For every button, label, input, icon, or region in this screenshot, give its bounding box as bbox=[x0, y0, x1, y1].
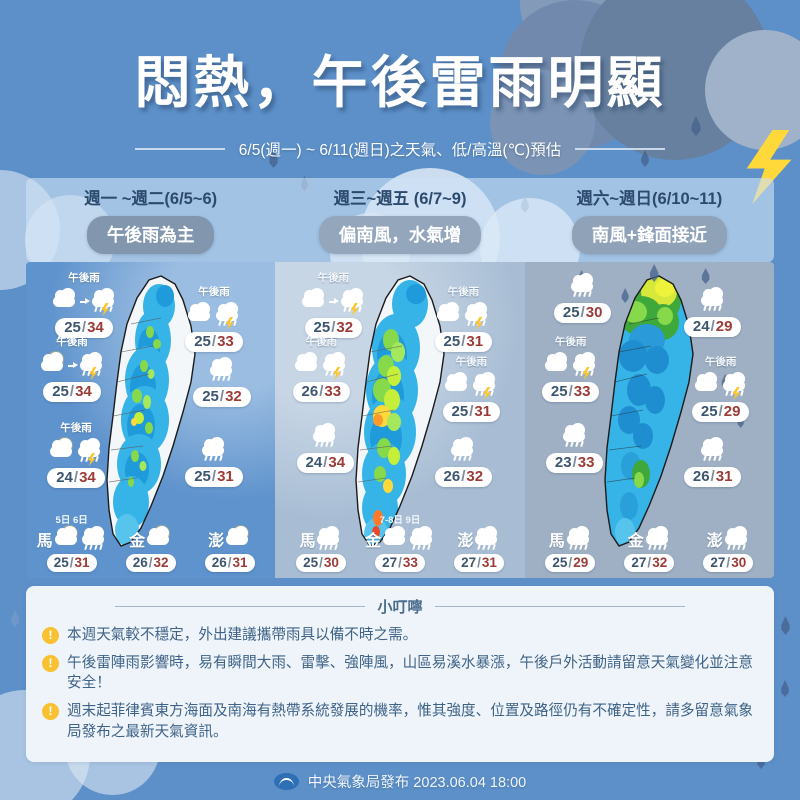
island-name: 金 bbox=[129, 527, 145, 551]
weather-caption: 午後雨 bbox=[415, 284, 511, 299]
cloud-icon bbox=[301, 289, 327, 313]
rain-cloud-icon bbox=[566, 527, 592, 551]
tip-item: !週末起菲律賓東方海面及南海有熱帶系統發展的機率，惟其強度、位置及路徑仍有不確定… bbox=[42, 701, 756, 742]
island-forecast-金: 金26/32 bbox=[115, 526, 187, 572]
weather-label-west: 午後雨25/34 bbox=[26, 334, 120, 402]
weather-icon-group bbox=[174, 355, 270, 385]
temperature-pill: 25/29 bbox=[692, 402, 750, 422]
weather-label-north: 午後雨25/34 bbox=[36, 270, 132, 338]
island-forecast-澎: 澎27/31 bbox=[443, 526, 515, 572]
cloud-icon bbox=[52, 289, 78, 313]
tip-item: !午後雷陣雨影響時，易有瞬間大雨、雷擊、強陣風，山區易溪水暴漲，午後戶外活動請留… bbox=[42, 653, 756, 694]
island-forecast-澎: 澎27/30 bbox=[692, 526, 764, 572]
cloud-icon bbox=[436, 303, 462, 327]
weather-icon-group bbox=[665, 285, 761, 315]
weather-label-west: 午後雨25/33 bbox=[525, 334, 619, 402]
temperature-pill: 26/31 bbox=[205, 554, 255, 572]
temperature-pill: 25/34 bbox=[43, 382, 101, 402]
rain-cloud-icon bbox=[700, 288, 726, 312]
tip-item: !本週天氣較不穩定，外出建議攜帶雨具以備不時之需。 bbox=[42, 625, 756, 646]
sun-cloud-icon bbox=[146, 527, 172, 551]
thunderstorm-icon bbox=[572, 353, 598, 377]
weather-label-north: 25/30 bbox=[535, 270, 631, 323]
cloud-icon bbox=[694, 373, 720, 397]
weather-icon-group bbox=[423, 370, 519, 400]
island-name: 馬 bbox=[549, 527, 565, 551]
weather-label-northeast: 午後雨25/33 bbox=[166, 284, 262, 352]
weather-label-southeast: 26/31 bbox=[665, 434, 761, 487]
sun-cloud-icon bbox=[54, 527, 80, 551]
rain-cloud-icon bbox=[81, 527, 107, 551]
column-1-summary: 午後雨為主 bbox=[87, 216, 215, 254]
thunderstorm-icon bbox=[215, 303, 241, 327]
cloud-icon bbox=[544, 353, 570, 377]
tips-divider-right bbox=[435, 606, 685, 608]
tips-header: 小叮嚀 bbox=[26, 586, 774, 617]
tips-card: 小叮嚀 !本週天氣較不穩定，外出建議攜帶雨具以備不時之需。!午後雷陣雨影響時，易… bbox=[26, 586, 774, 762]
cloud-icon bbox=[187, 303, 213, 327]
subtitle-row: 6/5(週一) ~ 6/11(週日)之天氣、低/高溫(℃)預估 bbox=[0, 138, 800, 160]
weather-icon-group bbox=[535, 271, 631, 301]
weather-icon-group bbox=[277, 421, 373, 451]
island-icon-row: 澎 bbox=[692, 526, 764, 552]
weather-icon-group bbox=[166, 435, 262, 465]
warning-exclamation-icon: ! bbox=[42, 703, 59, 720]
forecast-panels: 5日 6日馬25/31金26/32澎26/31 午後雨25/34午後雨25/33… bbox=[26, 262, 774, 578]
cloud-icon bbox=[294, 353, 320, 377]
raindrop-icon bbox=[780, 616, 791, 635]
thunderstorm-icon bbox=[722, 373, 748, 397]
thunderstorm-icon bbox=[322, 353, 348, 377]
sun-cloud-icon bbox=[40, 353, 66, 377]
weather-label-north: 午後雨25/32 bbox=[285, 270, 381, 338]
temperature-pill: 25/31 bbox=[185, 467, 243, 487]
temperature-pill: 27/30 bbox=[703, 554, 753, 572]
tips-title: 小叮嚀 bbox=[377, 596, 422, 617]
island-icon-row: 金 bbox=[613, 526, 685, 552]
column-2-date-range: 週三~週五 (6/7~9) bbox=[275, 185, 524, 209]
island-forecast-金: 金27/32 bbox=[613, 526, 685, 572]
weather-icon-group bbox=[26, 350, 120, 380]
island-icon-row: 澎 bbox=[443, 526, 515, 552]
island-icon-row: 馬 bbox=[285, 526, 357, 552]
island-forecast-strip-2: 馬25/307-8日 9日金27/33澎27/31 bbox=[275, 526, 524, 572]
temperature-pill: 27/31 bbox=[454, 554, 504, 572]
weather-icon-group bbox=[285, 286, 381, 316]
island-name: 澎 bbox=[457, 527, 473, 551]
island-icon-row: 馬 bbox=[534, 526, 606, 552]
island-icon-row: 金 bbox=[115, 526, 187, 552]
weather-caption: 午後雨 bbox=[285, 270, 381, 285]
temperature-pill: 27/32 bbox=[624, 554, 674, 572]
weather-forecast-poster: 悶熱，午後雷雨明顯 6/5(週一) ~ 6/11(週日)之天氣、低/高溫(℃)預… bbox=[0, 0, 800, 800]
weather-icon-group bbox=[527, 421, 623, 451]
weather-caption: 午後雨 bbox=[423, 354, 519, 369]
temperature-pill: 25/30 bbox=[296, 554, 346, 572]
column-2-summary: 偏南風，水氣增 bbox=[319, 216, 482, 254]
rain-cloud-icon bbox=[570, 274, 596, 298]
weather-icon-group bbox=[275, 350, 369, 380]
arrow-right-icon bbox=[329, 297, 338, 306]
temperature-pill: 24/34 bbox=[297, 453, 355, 473]
weather-caption: 午後雨 bbox=[36, 270, 132, 285]
cwb-logo-icon bbox=[274, 773, 299, 790]
weather-label-east: 午後雨25/31 bbox=[423, 354, 519, 422]
weather-label-southwest: 23/33 bbox=[527, 420, 623, 473]
column-header-3: 週六~週日(6/10~11) 南風+鋒面接近 bbox=[525, 178, 774, 262]
column-1-date-range: 週一 ~週二(6/5~6) bbox=[26, 185, 275, 209]
island-icon-row: 馬 bbox=[36, 526, 108, 552]
sun-cloud-icon bbox=[49, 439, 75, 463]
island-forecast-馬: 馬25/29 bbox=[534, 526, 606, 572]
sun-cloud-icon bbox=[225, 527, 251, 551]
footer: 中央氣象局發布 2023.06.04 18:00 bbox=[0, 771, 800, 792]
weather-icon-group bbox=[415, 300, 511, 330]
arrow-right-icon bbox=[68, 361, 77, 370]
weather-icon-group bbox=[166, 300, 262, 330]
warning-exclamation-icon: ! bbox=[42, 655, 59, 672]
temperature-pill: 25/32 bbox=[193, 387, 251, 407]
rain-cloud-icon bbox=[201, 438, 227, 462]
rain-cloud-icon bbox=[645, 527, 671, 551]
thunderstorm-icon bbox=[79, 353, 105, 377]
thunderstorm-icon bbox=[340, 289, 366, 313]
footer-text: 中央氣象局發布 2023.06.04 18:00 bbox=[308, 771, 526, 792]
column-header-2: 週三~週五 (6/7~9) 偏南風，水氣增 bbox=[275, 178, 524, 262]
temperature-pill: 25/31 bbox=[443, 402, 501, 422]
weather-caption: 午後雨 bbox=[26, 334, 120, 349]
tips-list: !本週天氣較不穩定，外出建議攜帶雨具以備不時之需。!午後雷陣雨影響時，易有瞬間大… bbox=[26, 617, 774, 743]
forecast-panel-saturday-sunday: 馬25/29金27/32澎27/30 25/3024/29午後雨25/33午後雨… bbox=[525, 262, 774, 578]
subtitle-text: 6/5(週一) ~ 6/11(週日)之天氣、低/高溫(℃)預估 bbox=[239, 138, 561, 160]
temperature-pill: 23/33 bbox=[546, 453, 604, 473]
temperature-pill: 26/33 bbox=[293, 382, 351, 402]
weather-label-southeast: 26/32 bbox=[415, 434, 511, 487]
rain-cloud-icon bbox=[724, 527, 750, 551]
rain-cloud-icon bbox=[450, 438, 476, 462]
column-header-1: 週一 ~週二(6/5~6) 午後雨為主 bbox=[26, 178, 275, 262]
weather-caption: 午後雨 bbox=[525, 334, 619, 349]
divider-left bbox=[135, 148, 225, 150]
island-name: 金 bbox=[365, 527, 381, 551]
temperature-pill: 25/33 bbox=[542, 382, 600, 402]
island-forecast-澎: 澎26/31 bbox=[194, 526, 266, 572]
temperature-pill: 26/32 bbox=[126, 554, 176, 572]
island-name: 金 bbox=[628, 527, 644, 551]
column-header-band: 週一 ~週二(6/5~6) 午後雨為主 週三~週五 (6/7~9) 偏南風，水氣… bbox=[26, 178, 774, 262]
weather-icon-group bbox=[36, 286, 132, 316]
island-day-label: 5日 6日 bbox=[36, 512, 108, 526]
thunderstorm-icon bbox=[77, 439, 103, 463]
divider-right bbox=[575, 148, 665, 150]
tip-text: 本週天氣較不穩定，外出建議攜帶雨具以備不時之需。 bbox=[67, 625, 417, 646]
weather-caption: 午後雨 bbox=[673, 354, 769, 369]
column-3-date-range: 週六~週日(6/10~11) bbox=[525, 185, 774, 209]
island-forecast-金: 7-8日 9日金27/33 bbox=[364, 526, 436, 572]
temperature-pill: 24/29 bbox=[684, 317, 742, 337]
temperature-pill: 26/32 bbox=[435, 467, 493, 487]
weather-caption: 午後雨 bbox=[275, 334, 369, 349]
poster-header: 悶熱，午後雷雨明顯 6/5(週一) ~ 6/11(週日)之天氣、低/高溫(℃)預… bbox=[0, 0, 800, 172]
raindrop-icon bbox=[780, 680, 790, 697]
island-forecast-馬: 馬25/30 bbox=[285, 526, 357, 572]
rain-cloud-icon bbox=[562, 424, 588, 448]
rain-cloud-icon bbox=[474, 527, 500, 551]
island-name: 馬 bbox=[299, 527, 315, 551]
weather-label-southwest: 午後雨24/34 bbox=[28, 420, 124, 488]
thunderstorm-icon bbox=[91, 289, 117, 313]
tip-text: 午後雷陣雨影響時，易有瞬間大雨、雷擊、強陣風，山區易溪水暴漲，午後戶外活動請留意… bbox=[67, 653, 756, 694]
tip-text: 週末起菲律賓東方海面及南海有熱帶系統發展的機率，惟其強度、位置及路徑仍有不確定性… bbox=[67, 701, 756, 742]
weather-caption: 午後雨 bbox=[166, 284, 262, 299]
island-forecast-strip-1: 5日 6日馬25/31金26/32澎26/31 bbox=[26, 526, 275, 572]
weather-icon-group bbox=[28, 436, 124, 466]
temperature-pill: 25/31 bbox=[435, 332, 493, 352]
temperature-pill: 25/30 bbox=[554, 303, 612, 323]
rain-cloud-icon bbox=[316, 527, 342, 551]
weather-label-southeast: 25/31 bbox=[166, 434, 262, 487]
weather-icon-group bbox=[415, 435, 511, 465]
island-name: 澎 bbox=[707, 527, 723, 551]
island-icon-row: 澎 bbox=[194, 526, 266, 552]
weather-label-west: 午後雨26/33 bbox=[275, 334, 369, 402]
island-name: 馬 bbox=[37, 527, 53, 551]
island-day-label: 7-8日 9日 bbox=[364, 512, 436, 526]
thunderstorm-icon bbox=[464, 303, 490, 327]
rain-cloud-icon bbox=[700, 438, 726, 462]
rain-cloud-icon bbox=[209, 358, 235, 382]
island-icon-row: 金 bbox=[364, 526, 436, 552]
rain-cloud-icon bbox=[312, 424, 338, 448]
island-name: 澎 bbox=[208, 527, 224, 551]
temperature-pill: 25/33 bbox=[185, 332, 243, 352]
weather-label-northeast: 午後雨25/31 bbox=[415, 284, 511, 352]
temperature-pill: 26/31 bbox=[684, 467, 742, 487]
weather-icon-group bbox=[525, 350, 619, 380]
weather-icon-group bbox=[665, 435, 761, 465]
forecast-panel-wednesday-friday: 馬25/307-8日 9日金27/33澎27/31 午後雨25/32午後雨25/… bbox=[275, 262, 524, 578]
weather-label-east: 午後雨25/29 bbox=[673, 354, 769, 422]
arrow-right-icon bbox=[80, 297, 89, 306]
forecast-panel-monday-tuesday: 5日 6日馬25/31金26/32澎26/31 午後雨25/34午後雨25/33… bbox=[26, 262, 275, 578]
tips-divider-left bbox=[115, 606, 365, 608]
island-forecast-馬: 5日 6日馬25/31 bbox=[36, 526, 108, 572]
weather-label-northeast: 24/29 bbox=[665, 284, 761, 337]
weather-label-southwest: 24/34 bbox=[277, 420, 373, 473]
cloud-icon bbox=[444, 373, 470, 397]
warning-exclamation-icon: ! bbox=[42, 627, 59, 644]
raindrop-icon bbox=[10, 610, 20, 627]
thunderstorm-icon bbox=[472, 373, 498, 397]
weather-icon-group bbox=[673, 370, 769, 400]
temperature-pill: 25/29 bbox=[545, 554, 595, 572]
temperature-pill: 25/31 bbox=[47, 554, 97, 572]
weather-label-east: 25/32 bbox=[174, 354, 270, 407]
rain-cloud-icon bbox=[409, 527, 435, 551]
weather-caption: 午後雨 bbox=[28, 420, 124, 435]
column-3-summary: 南風+鋒面接近 bbox=[572, 216, 727, 254]
cloud-icon bbox=[382, 527, 408, 551]
page-title: 悶熱，午後雷雨明顯 bbox=[0, 38, 800, 119]
island-forecast-strip-3: 馬25/29金27/32澎27/30 bbox=[525, 526, 774, 572]
temperature-pill: 27/33 bbox=[375, 554, 425, 572]
temperature-pill: 24/34 bbox=[47, 468, 105, 488]
